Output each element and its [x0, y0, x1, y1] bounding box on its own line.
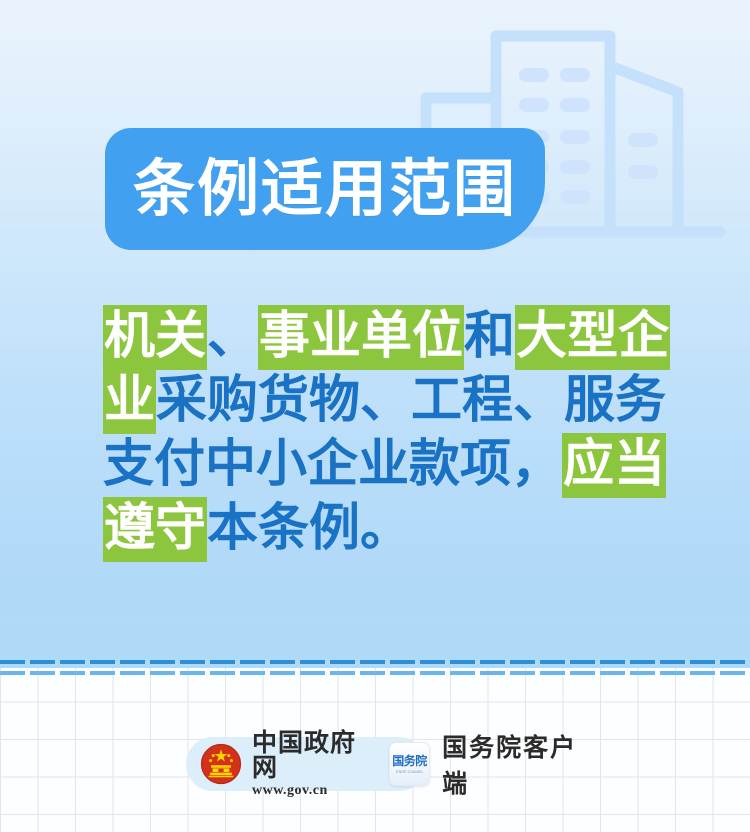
app-icon-sublabel: STATE COUNCIL — [396, 770, 424, 774]
plain-phrase: 支付中小企业款项， — [103, 435, 562, 494]
state-council-app-block[interactable]: 国务院 STATE COUNCIL 国务院客户端 — [389, 728, 586, 800]
state-council-app-icon[interactable]: 国务院 STATE COUNCIL — [389, 742, 430, 786]
app-icon-label: 国务院 — [392, 755, 427, 767]
china-national-emblem-icon — [200, 743, 242, 785]
highlighted-phrase: 事业单位 — [258, 305, 464, 370]
page-title: 条例适用范围 — [133, 158, 517, 220]
infographic-poster: 条例适用范围 机关、事业单位和大型企 业采购货物、工程、服务 支付中小企业款项，… — [0, 0, 750, 832]
dashed-divider-top — [0, 660, 750, 664]
copy-line: 业采购货物、工程、服务 — [103, 369, 673, 433]
highlighted-phrase: 遵守 — [103, 497, 207, 562]
plain-phrase: 本条例。 — [207, 499, 411, 558]
plain-phrase: 采购货物、工程、服务 — [156, 371, 666, 430]
copy-line: 遵守本条例。 — [103, 497, 673, 561]
highlighted-phrase: 机关 — [103, 305, 207, 370]
body-copy: 机关、事业单位和大型企 业采购货物、工程、服务 支付中小企业款项，应当 遵守本条… — [103, 305, 673, 561]
plain-phrase: 和 — [464, 307, 515, 366]
highlighted-phrase: 业 — [103, 369, 156, 434]
state-council-app-name: 国务院客户端 — [442, 728, 586, 800]
copy-line: 机关、事业单位和大型企 — [103, 305, 673, 369]
dashed-divider-bottom — [0, 671, 750, 675]
gov-site-name: 中国政府网 — [252, 730, 363, 780]
plain-phrase: 、 — [207, 307, 258, 366]
copy-line: 支付中小企业款项，应当 — [103, 433, 673, 497]
highlighted-phrase: 应当 — [562, 433, 666, 498]
gov-site-block[interactable]: 中国政府网 www.gov.cn — [200, 730, 363, 798]
footer-credit-bar: 中国政府网 www.gov.cn 国务院 STATE COUNCIL 国务院客户… — [186, 733, 586, 795]
title-banner: 条例适用范围 — [105, 128, 545, 250]
gov-site-url: www.gov.cn — [252, 784, 363, 798]
highlighted-phrase: 大型企 — [515, 305, 670, 370]
